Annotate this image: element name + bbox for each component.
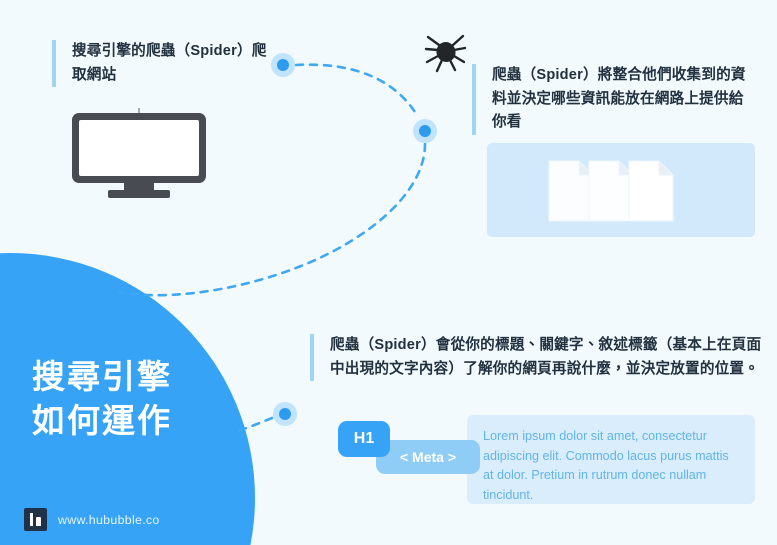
step-rank-text: 爬蟲（Spider）會從你的標題、關鍵字、敘述標籤（基本上在頁面中出現的文字內容… [310,334,762,381]
page-title-line-2: 如何運作 [32,399,232,443]
meta-tag-badge: < Meta > [376,440,480,474]
hububble-logo-icon [24,508,47,531]
monitor-screen [79,120,199,176]
sample-content-box: Lorem ipsum dolor sit amet, consectetur … [467,415,755,504]
spider-floating-icon [426,36,465,71]
brand-footer: www.hububble.co [24,508,160,531]
step-crawl-text: 搜尋引擎的爬蟲（Spider）爬取網站 [52,40,267,87]
connector-dot-2 [413,119,437,143]
documents-panel [487,143,755,237]
connector-dot-1 [271,53,295,77]
monitor-base [108,190,170,198]
page-title-line-1: 搜尋引擎 [32,355,232,399]
step-index-text: 爬蟲（Spider）將整合他們收集到的資料並決定哪些資訊能放在網路上提供給你看 [472,64,752,135]
monitor-icon [72,113,206,183]
connector-dot-3 [273,402,297,426]
document-stack-icon [487,143,755,237]
page-title: 搜尋引擎 如何運作 [32,355,232,443]
h1-tag-badge: H1 [338,421,390,457]
connector-segment-1 [296,65,415,112]
infographic-canvas: 搜尋引擎的爬蟲（Spider）爬取網站 爬蟲（Spider）將整合他們收集到的資… [0,0,777,545]
brand-url[interactable]: www.hububble.co [58,513,160,527]
connector-segment-3 [238,418,272,431]
